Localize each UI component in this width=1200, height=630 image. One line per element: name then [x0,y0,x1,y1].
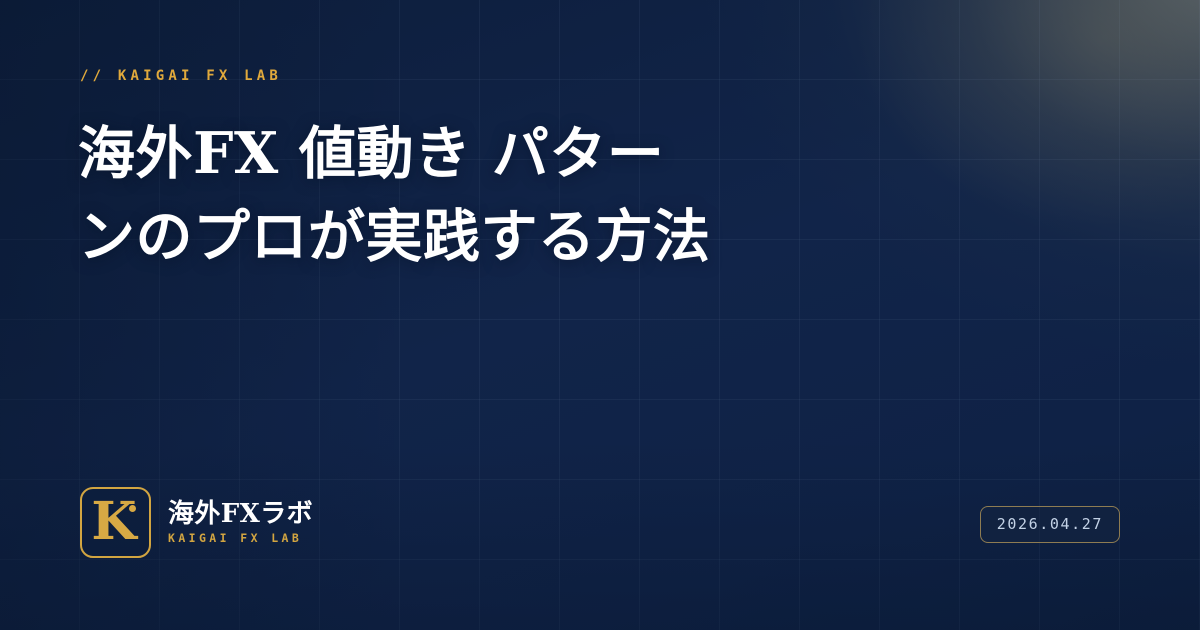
brand-name-block: 海外FXラボ KAIGAI FX LAB [168,500,313,545]
eyebrow-label: // KAIGAI FX LAB [80,68,282,84]
logo-letter-k: K [82,489,149,556]
brand-name-jp: 海外FXラボ [168,500,313,528]
ogp-card: // KAIGAI FX LAB 海外FX 値動き パター ンのプロが実践する方… [0,0,1200,630]
logo-mark-icon: K [80,487,151,558]
brand-logo-lockup[interactable]: K 海外FXラボ KAIGAI FX LAB [80,487,313,558]
page-title: 海外FX 値動き パター ンのプロが実践する方法 [78,112,898,278]
card-content: // KAIGAI FX LAB 海外FX 値動き パター ンのプロが実践する方… [0,0,1200,630]
page-title-line-2: ンのプロが実践する方法 [78,195,898,278]
brand-name-en: KAIGAI FX LAB [168,531,313,545]
date-badge: 2026.04.27 [980,506,1120,543]
logo-dot-icon [129,505,136,512]
page-title-line-1: 海外FX 値動き パター [78,112,898,195]
